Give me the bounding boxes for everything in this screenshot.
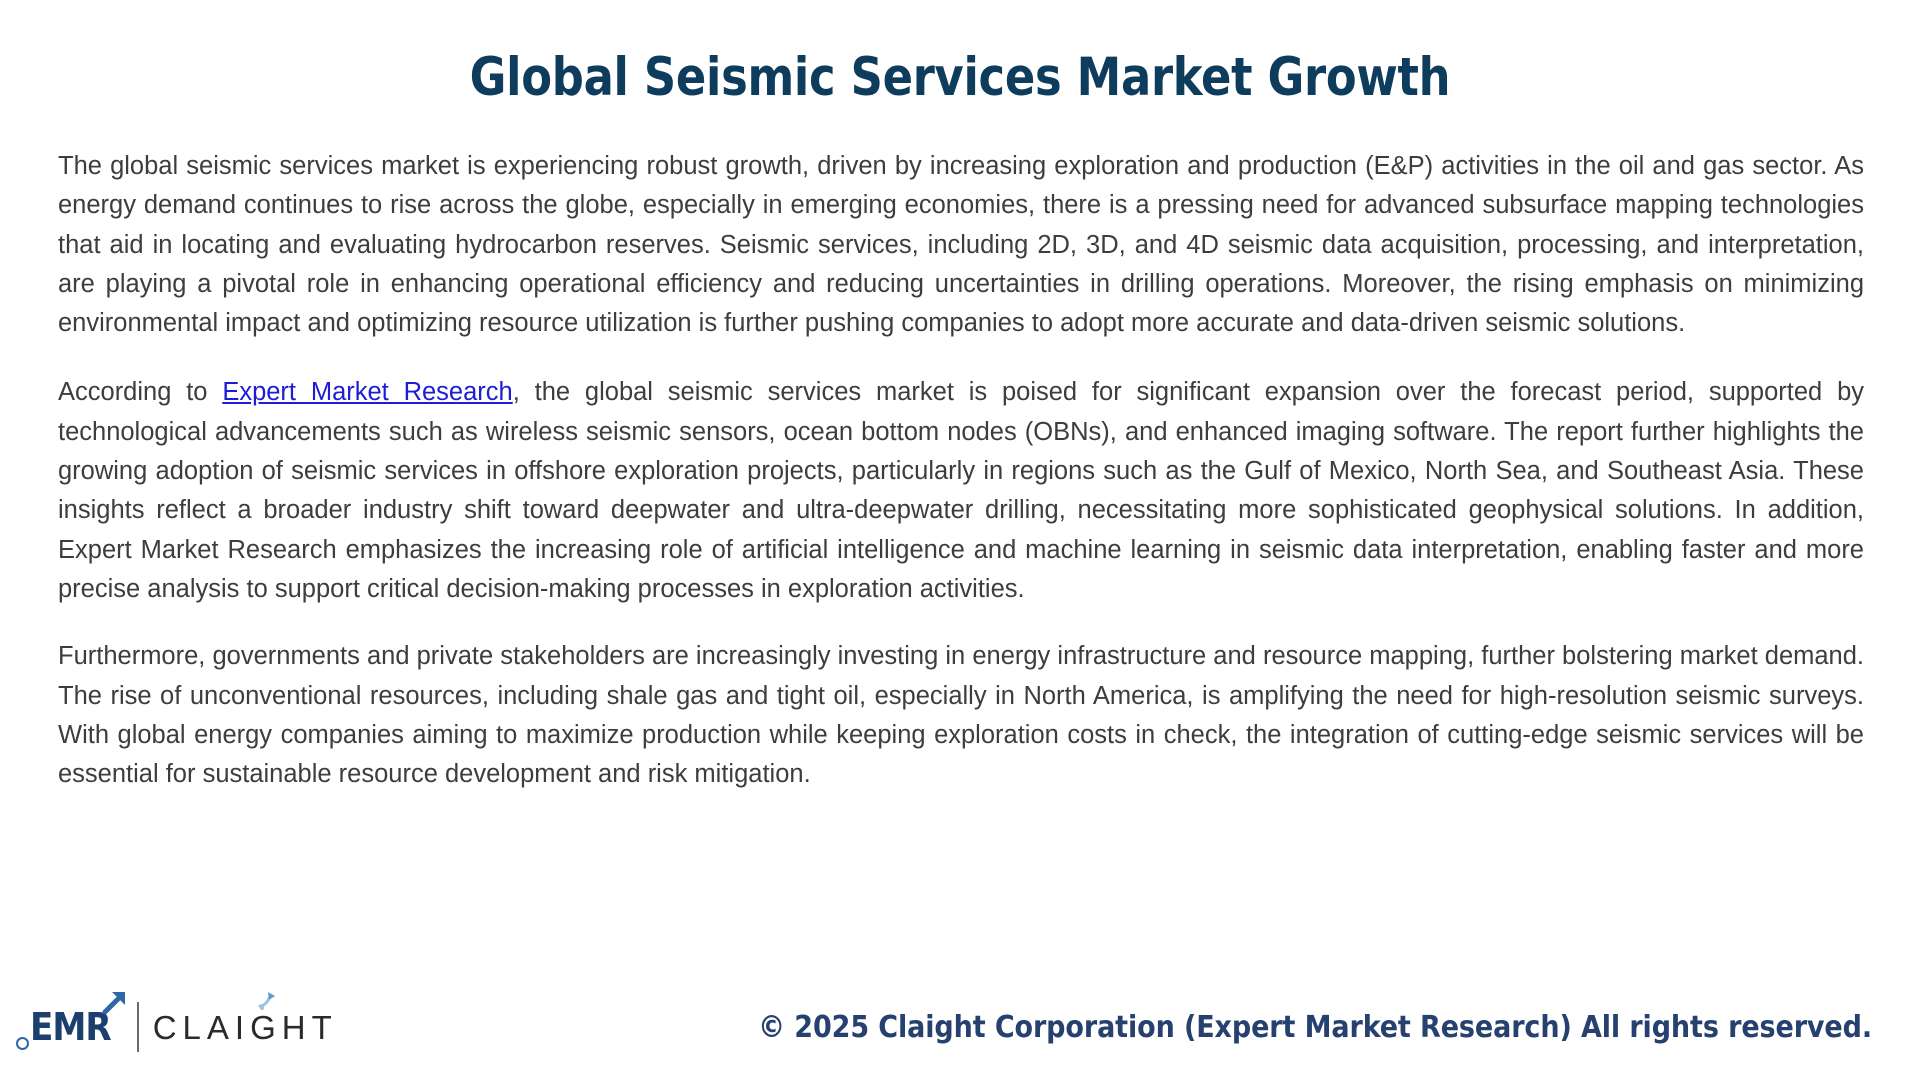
claight-wordmark: CLAIGHT	[153, 1011, 338, 1044]
claight-spark-icon	[257, 990, 279, 1012]
emr-claight-logo: EMR CLAIGHT	[10, 999, 338, 1055]
paragraph-3: Furthermore, governments and private sta…	[58, 637, 1864, 794]
copyright-notice: © 2025 Claight Corporation (Expert Marke…	[758, 1010, 1872, 1045]
paragraph-2-lead-in: According to	[58, 378, 222, 406]
logo-divider	[137, 1002, 139, 1052]
document-page: Global Seismic Services Market Growth Th…	[0, 0, 1920, 1080]
emr-wordmark-text: EMR	[30, 1005, 111, 1049]
paragraph-2-body: , the global seismic services market is …	[58, 378, 1864, 602]
paragraph-1: The global seismic services market is ex…	[58, 147, 1864, 343]
page-title-container: Global Seismic Services Market Growth	[0, 0, 1920, 109]
emr-circle-icon	[16, 1037, 29, 1050]
page-footer: EMR CLAIGHT © 2025 Claight Corporation (…	[0, 988, 1920, 1080]
expert-market-research-link[interactable]: Expert Market Research	[222, 378, 512, 406]
paragraph-2: According to Expert Market Research, the…	[58, 373, 1864, 609]
document-body: The global seismic services market is ex…	[0, 109, 1920, 1080]
claight-wordmark-text: CLAIGHT	[153, 1009, 338, 1046]
page-title: Global Seismic Services Market Growth	[114, 48, 1806, 109]
emr-wordmark: EMR	[16, 1008, 111, 1046]
